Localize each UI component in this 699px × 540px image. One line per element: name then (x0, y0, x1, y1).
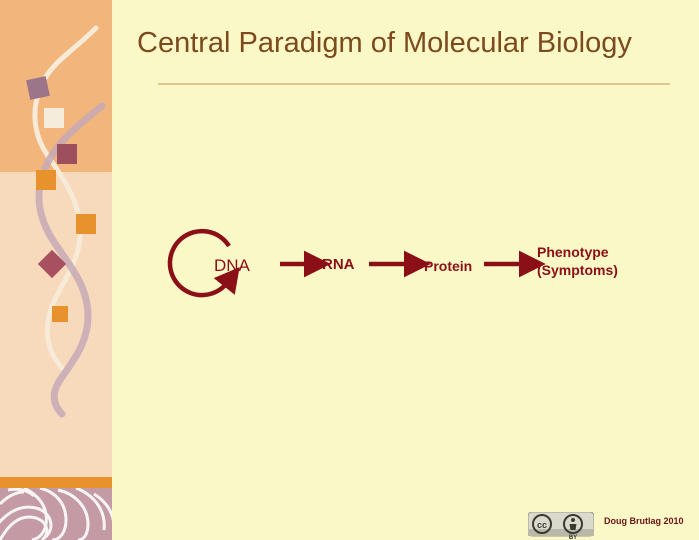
cc-label: cc (537, 520, 547, 530)
node-label-rna: RNA (322, 256, 355, 273)
node-label-phenotype: Phenotype (Symptoms) (537, 243, 618, 279)
phenotype-line-1: Phenotype (537, 243, 618, 261)
phenotype-line-2: (Symptoms) (537, 261, 618, 279)
slide-canvas: Central Paradigm of Molecular Biology DN… (0, 0, 699, 540)
node-label-protein: Protein (424, 258, 472, 274)
cc-by-license-badge[interactable]: cc BY (528, 512, 594, 540)
by-label: BY (569, 535, 577, 540)
node-label-dna: DNA (214, 256, 250, 276)
author-credit: Doug Brutlag 2010 (604, 516, 684, 526)
